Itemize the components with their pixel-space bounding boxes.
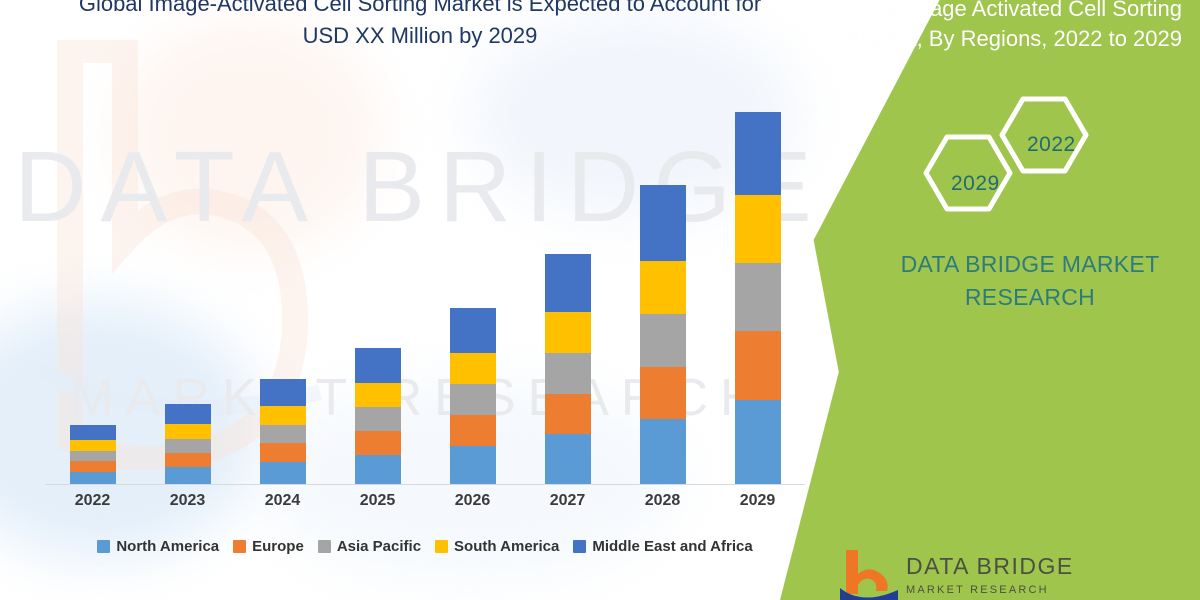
- x-axis-tick-label: 2029: [718, 492, 798, 510]
- bar-segment[interactable]: [545, 254, 591, 312]
- bar-segment[interactable]: [260, 379, 306, 406]
- bar-segment[interactable]: [640, 261, 686, 314]
- bar-group[interactable]: [450, 308, 496, 485]
- bar-segment[interactable]: [355, 383, 401, 407]
- legend-label: Middle East and Africa: [592, 538, 752, 555]
- bar-segment[interactable]: [165, 439, 211, 453]
- bar-segment[interactable]: [545, 394, 591, 435]
- bar-segment[interactable]: [165, 453, 211, 467]
- bar-segment[interactable]: [735, 195, 781, 263]
- company-logo: DATA BRIDGE MARKET RESEARCH: [840, 548, 1180, 600]
- x-axis-tick-label: 2025: [338, 492, 418, 510]
- bar-group[interactable]: [355, 348, 401, 485]
- x-axis-tick-label: 2023: [148, 492, 228, 510]
- legend-label: North America: [116, 538, 219, 555]
- hex-badge-near-label: 2029: [951, 172, 1000, 196]
- bar-segment[interactable]: [260, 406, 306, 425]
- infographic-canvas: DATA BRIDGE MARKET RESEARCH Global Image…: [0, 0, 1200, 600]
- legend-label: South America: [454, 538, 559, 555]
- bar-segment[interactable]: [260, 462, 306, 485]
- bar-group[interactable]: [735, 112, 781, 485]
- bar-segment[interactable]: [450, 415, 496, 446]
- bar-segment[interactable]: [70, 461, 116, 472]
- logo-rule: [906, 580, 1058, 582]
- bar-segment[interactable]: [260, 443, 306, 462]
- bar-segment[interactable]: [70, 440, 116, 451]
- bar-segment[interactable]: [735, 263, 781, 331]
- legend-item[interactable]: Middle East and Africa: [573, 538, 752, 555]
- brand-block: DATA BRIDGE MARKET RESEARCH: [865, 248, 1195, 314]
- bar-segment[interactable]: [640, 367, 686, 420]
- bar-segment[interactable]: [545, 434, 591, 485]
- legend-label: Europe: [252, 538, 304, 555]
- hexagon-outline-icon: [905, 85, 1135, 225]
- bar-segment[interactable]: [355, 348, 401, 383]
- bar-group[interactable]: [640, 185, 686, 485]
- bar-segment[interactable]: [450, 384, 496, 415]
- bar-segment[interactable]: [640, 314, 686, 367]
- bar-segment[interactable]: [545, 353, 591, 394]
- bar-segment[interactable]: [70, 472, 116, 485]
- stacked-bar-chart: [45, 100, 805, 485]
- hexagon-badges: 2022 2029: [905, 85, 1135, 225]
- logo-name: DATA BRIDGE: [906, 554, 1074, 578]
- bar-group[interactable]: [165, 404, 211, 485]
- bar-segment[interactable]: [735, 112, 781, 195]
- legend-item[interactable]: North America: [97, 538, 219, 555]
- x-axis-tick-label: 2027: [528, 492, 608, 510]
- hex-badge-far-label: 2022: [1027, 133, 1076, 157]
- bar-segment[interactable]: [165, 424, 211, 438]
- x-axis-tick-label: 2028: [623, 492, 703, 510]
- legend-swatch-icon: [97, 540, 110, 553]
- legend-label: Asia Pacific: [337, 538, 421, 555]
- brand-line-1: DATA BRIDGE MARKET: [865, 248, 1195, 281]
- legend-item[interactable]: Asia Pacific: [318, 538, 421, 555]
- bar-segment[interactable]: [735, 400, 781, 485]
- bar-segment[interactable]: [640, 419, 686, 485]
- legend-swatch-icon: [318, 540, 331, 553]
- x-axis-tick-label: 2022: [53, 492, 133, 510]
- x-axis-tick-label: 2024: [243, 492, 323, 510]
- data-bridge-logo-icon: [840, 548, 898, 600]
- panel-title: Global Image Activated Cell Sorting Mark…: [822, 0, 1182, 54]
- bar-segment[interactable]: [355, 455, 401, 485]
- bar-segment[interactable]: [355, 431, 401, 455]
- bar-segment[interactable]: [450, 446, 496, 485]
- bar-segment[interactable]: [355, 407, 401, 431]
- legend-swatch-icon: [233, 540, 246, 553]
- legend-swatch-icon: [435, 540, 448, 553]
- chart-title: Global Image-Activated Cell Sorting Mark…: [70, 0, 770, 52]
- bar-segment[interactable]: [450, 308, 496, 353]
- bar-segment[interactable]: [165, 467, 211, 485]
- legend-item[interactable]: South America: [435, 538, 559, 555]
- logo-subtitle: MARKET RESEARCH: [906, 584, 1074, 597]
- bar-segment[interactable]: [70, 425, 116, 440]
- x-axis-tick-label: 2026: [433, 492, 513, 510]
- bar-segment[interactable]: [735, 331, 781, 399]
- bar-segment[interactable]: [545, 312, 591, 353]
- bar-segment[interactable]: [165, 404, 211, 424]
- brand-line-2: RESEARCH: [865, 281, 1195, 314]
- bar-group[interactable]: [70, 425, 116, 485]
- bar-group[interactable]: [545, 254, 591, 485]
- legend-item[interactable]: Europe: [233, 538, 304, 555]
- bar-segment[interactable]: [70, 451, 116, 462]
- bar-group[interactable]: [260, 379, 306, 485]
- legend-swatch-icon: [573, 540, 586, 553]
- x-axis-labels: 20222023202420252026202720282029: [45, 492, 805, 522]
- bar-segment[interactable]: [260, 425, 306, 444]
- chart-legend: North AmericaEuropeAsia PacificSouth Ame…: [45, 538, 805, 555]
- bar-segment[interactable]: [640, 185, 686, 261]
- bar-segment[interactable]: [450, 353, 496, 384]
- logo-text-block: DATA BRIDGE MARKET RESEARCH: [906, 548, 1074, 597]
- x-axis-line: [45, 484, 805, 485]
